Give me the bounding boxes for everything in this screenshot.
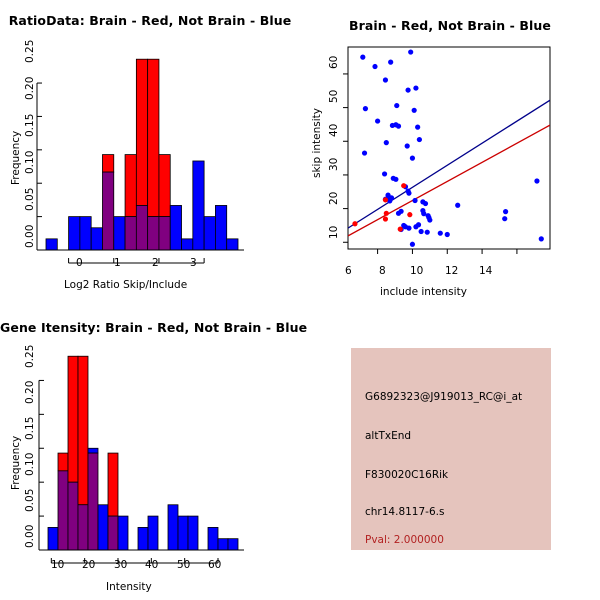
scatter-point-0000FF-56 [410, 242, 415, 247]
gene-bar-upper-17 [218, 539, 228, 550]
scatter-content [348, 49, 550, 246]
ratio-bar-upper-0 [46, 239, 57, 250]
intensity-scatter-plot [300, 0, 600, 300]
scatter-point-0000FF-48 [406, 226, 411, 231]
ratio-bar-upper-3 [80, 217, 91, 250]
scatter-point-0000FF-22 [393, 177, 398, 182]
panel-ratio-histogram: RatioData: Brain - Red, Not Brain - Blue… [0, 0, 300, 300]
scatter-point-FF0000-0 [352, 221, 357, 226]
figure-canvas: RatioData: Brain - Red, Not Brain - Blue… [0, 0, 600, 600]
panel-intensity-scatter: Brain - Red, Not Brain - Blue skip inten… [300, 0, 600, 300]
scatter-point-0000FF-1 [408, 49, 413, 54]
scatter-point-0000FF-45 [534, 178, 539, 183]
scatter-point-0000FF-19 [410, 156, 415, 161]
scatter-point-0000FF-43 [503, 209, 508, 214]
info-event-type: altTxEnd [365, 430, 411, 442]
ratio-bar-upper-7 [125, 155, 136, 217]
scatter-point-0000FF-51 [419, 229, 424, 234]
ratio-bar-upper-15 [215, 205, 226, 250]
ratio-bar-upper-6 [114, 217, 125, 250]
gene-info-panel: G6892323@J919013_RC@i_at altTxEnd F83002… [351, 348, 551, 550]
gene-bar-lower-3 [78, 505, 88, 550]
scatter-point-0000FF-52 [425, 230, 430, 235]
ratio-bar-lower-7 [125, 217, 136, 250]
info-probe-id: G6892323@J919013_RC@i_at [365, 391, 522, 403]
ratio-bar-upper-13 [193, 161, 204, 250]
scatter-point-FF0000-3 [383, 197, 388, 202]
gene-bar-upper-6 [108, 453, 118, 516]
ratio-bar-lower-5 [102, 172, 113, 250]
scatter-point-0000FF-9 [412, 108, 417, 113]
gene-bar-upper-0 [48, 527, 58, 550]
scatter-point-0000FF-34 [423, 201, 428, 206]
scatter-point-0000FF-16 [405, 143, 410, 148]
scatter-point-0000FF-32 [412, 198, 417, 203]
gene-bar-upper-13 [178, 516, 188, 550]
gene-bar-upper-18 [228, 539, 238, 550]
gene-intensity-plot [0, 300, 300, 600]
scatter-point-0000FF-57 [539, 236, 544, 241]
gene-bar-upper-4 [88, 448, 98, 453]
scatter-point-FF0000-1 [384, 211, 389, 216]
scatter-point-0000FF-5 [405, 87, 410, 92]
scatter-point-0000FF-8 [394, 103, 399, 108]
panel-gene-info: G6892323@J919013_RC@i_at altTxEnd F83002… [300, 300, 600, 600]
ratio-bar-upper-5 [102, 155, 113, 172]
gene-bar-upper-2 [68, 356, 78, 482]
info-locus: chr14.8117-6.s [365, 506, 444, 518]
gene-bar-upper-16 [208, 527, 218, 550]
gene-bar-lower-6 [108, 516, 118, 550]
scatter-point-0000FF-37 [396, 211, 401, 216]
scatter-point-0000FF-42 [427, 217, 432, 222]
gene-bar-upper-10 [148, 516, 158, 550]
scatter-point-0000FF-50 [416, 222, 421, 227]
scatter-point-0000FF-3 [388, 60, 393, 65]
scatter-point-0000FF-30 [389, 195, 394, 200]
scatter-point-FF0000-2 [383, 216, 388, 221]
ratio-bar-upper-12 [182, 239, 193, 250]
gene-bar-upper-14 [188, 516, 198, 550]
scatter-point-0000FF-44 [502, 216, 507, 221]
scatter-point-0000FF-54 [445, 232, 450, 237]
scatter-point-0000FF-17 [417, 137, 422, 142]
scatter-point-FF0000-6 [398, 227, 403, 232]
ratio-bar-upper-16 [227, 239, 238, 250]
gene-bar-upper-7 [118, 516, 128, 550]
gene-bar-lower-2 [68, 482, 78, 550]
ratio-bar-lower-8 [136, 205, 147, 250]
ratio-histogram-plot [0, 0, 300, 300]
gene-bar-lower-4 [88, 453, 98, 550]
ratio-bar-upper-8 [136, 59, 147, 205]
ratio-bar-upper-4 [91, 228, 102, 250]
gene-bar-lower-1 [58, 471, 68, 550]
ratio-bar-upper-2 [69, 217, 80, 250]
ratio-bar-upper-10 [159, 155, 170, 217]
scatter-point-0000FF-53 [438, 231, 443, 236]
ratio-bar-upper-14 [204, 217, 215, 250]
ratio-bar-upper-11 [170, 205, 181, 250]
scatter-point-FF0000-4 [401, 183, 406, 188]
info-gene-symbol: F830020C16Rik [365, 469, 448, 481]
scatter-point-0000FF-25 [406, 191, 411, 196]
ratio-bar-upper-9 [148, 59, 159, 216]
gene-bar-upper-1 [58, 453, 68, 471]
scatter-point-0000FF-10 [375, 118, 380, 123]
ratio-bar-lower-9 [148, 217, 159, 250]
scatter-point-0000FF-35 [455, 203, 460, 208]
scatter-point-FF0000-5 [407, 212, 412, 217]
info-pvalue: Pval: 2.000000 [365, 534, 444, 546]
panel-gene-intensity-histogram: Gene Itensity: Brain - Red, Not Brain - … [0, 300, 300, 600]
scatter-point-0000FF-4 [383, 77, 388, 82]
scatter-point-0000FF-0 [360, 55, 365, 60]
gene-bar-upper-9 [138, 527, 148, 550]
scatter-point-0000FF-20 [382, 171, 387, 176]
scatter-point-0000FF-6 [413, 85, 418, 90]
scatter-point-0000FF-18 [362, 150, 367, 155]
gene-bar-upper-3 [78, 356, 88, 505]
gene-bar-upper-12 [168, 505, 178, 550]
scatter-point-0000FF-14 [415, 125, 420, 130]
scatter-point-0000FF-13 [396, 124, 401, 129]
scatter-point-0000FF-2 [372, 64, 377, 69]
scatter-brain-fit [348, 125, 550, 236]
scatter-point-0000FF-7 [363, 106, 368, 111]
gene-bar-upper-5 [98, 505, 108, 550]
scatter-point-0000FF-15 [384, 140, 389, 145]
ratio-bar-lower-10 [159, 217, 170, 250]
